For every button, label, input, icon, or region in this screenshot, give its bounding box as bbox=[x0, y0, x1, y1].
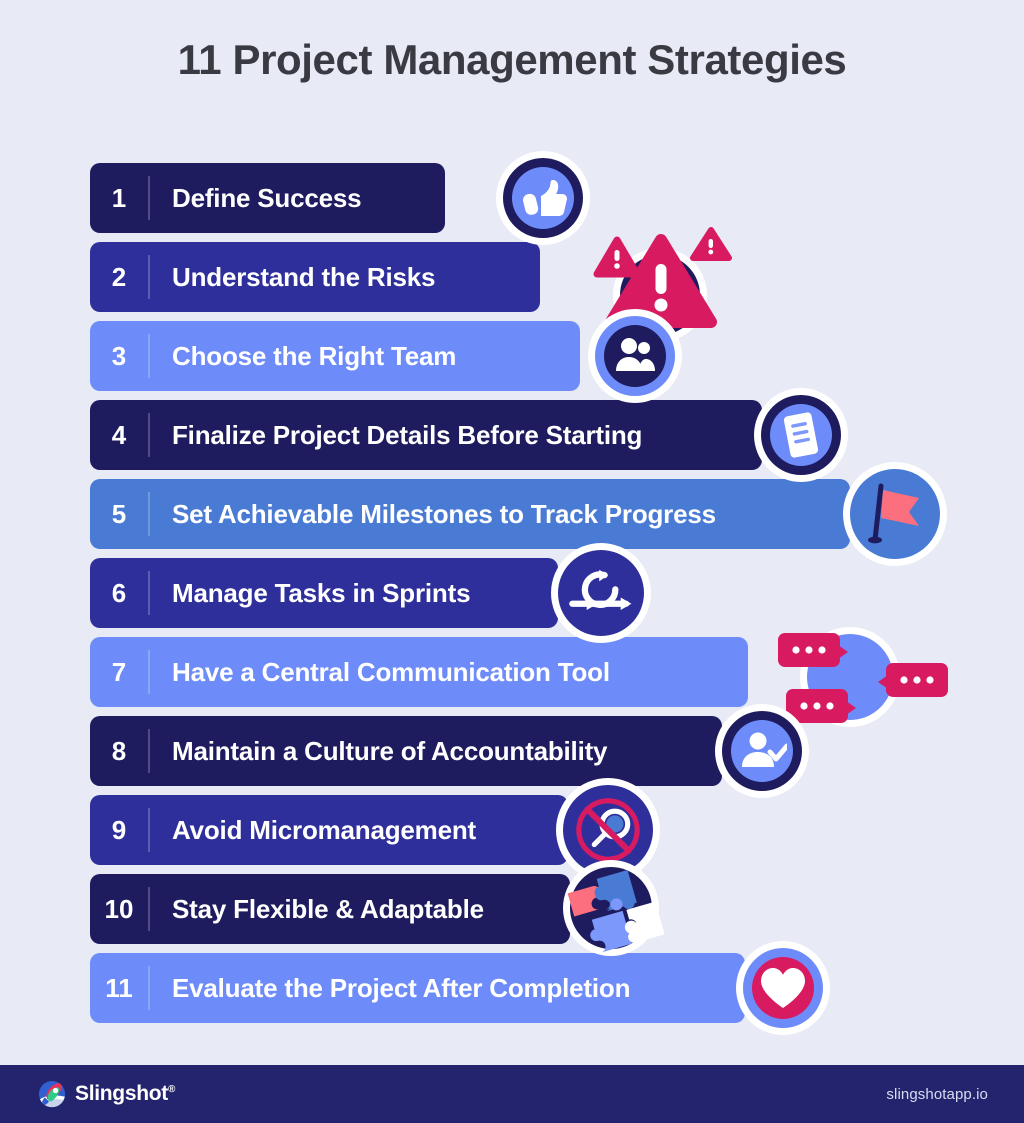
strategy-number: 1 bbox=[90, 185, 148, 211]
strategy-number: 8 bbox=[90, 738, 148, 764]
strategy-row: 1 Define Success bbox=[90, 163, 990, 233]
strategy-bar[interactable]: 6 Manage Tasks in Sprints bbox=[90, 558, 558, 628]
strategy-number: 10 bbox=[90, 896, 148, 922]
strategy-number: 7 bbox=[90, 659, 148, 685]
strategy-row: 4 Finalize Project Details Before Starti… bbox=[90, 400, 990, 470]
strategy-label: Avoid Micromanagement bbox=[150, 815, 476, 846]
slingshot-logo[interactable]: Slingshot® bbox=[38, 1080, 175, 1108]
strategy-bar[interactable]: 7 Have a Central Communication Tool bbox=[90, 637, 748, 707]
page-title: 11 Project Management Strategies bbox=[0, 36, 1024, 84]
strategy-label: Understand the Risks bbox=[150, 262, 435, 293]
slingshot-rocket-logo-icon bbox=[38, 1080, 66, 1108]
strategy-bar[interactable]: 3 Choose the Right Team bbox=[90, 321, 580, 391]
strategy-list: 1 Define Success 2 Understand the Risks bbox=[90, 163, 990, 1032]
thumbs-up-icon bbox=[496, 151, 590, 245]
strategy-row: 6 Manage Tasks in Sprints bbox=[90, 558, 990, 628]
flag-icon bbox=[843, 462, 947, 566]
strategy-row: 8 Maintain a Culture of Accountability bbox=[90, 716, 990, 786]
strategy-label: Stay Flexible & Adaptable bbox=[150, 894, 484, 925]
strategy-bar[interactable]: 5 Set Achievable Milestones to Track Pro… bbox=[90, 479, 850, 549]
sprint-cycle-icon bbox=[551, 543, 651, 643]
team-icon bbox=[588, 309, 682, 403]
strategy-row: 10 Stay Flexible & Adaptable bbox=[90, 874, 990, 944]
infographic-page: 11 Project Management Strategies 1 Defin… bbox=[0, 0, 1024, 1123]
strategy-bar[interactable]: 2 Understand the Risks bbox=[90, 242, 540, 312]
strategy-number: 2 bbox=[90, 264, 148, 290]
puzzle-pieces-glyph bbox=[561, 858, 677, 968]
strategy-row: 11 Evaluate the Project After Completion bbox=[90, 953, 990, 1023]
strategy-number: 9 bbox=[90, 817, 148, 843]
strategy-bar[interactable]: 11 Evaluate the Project After Completion bbox=[90, 953, 745, 1023]
strategy-label: Finalize Project Details Before Starting bbox=[150, 420, 642, 451]
strategy-label: Have a Central Communication Tool bbox=[150, 657, 610, 688]
document-icon bbox=[754, 388, 848, 482]
strategy-number: 4 bbox=[90, 422, 148, 448]
strategy-bar[interactable]: 8 Maintain a Culture of Accountability bbox=[90, 716, 722, 786]
strategy-bar[interactable]: 4 Finalize Project Details Before Starti… bbox=[90, 400, 762, 470]
strategy-number: 11 bbox=[90, 975, 148, 1001]
strategy-row: 3 Choose the Right Team bbox=[90, 321, 990, 391]
strategy-row: 2 Understand the Risks bbox=[90, 242, 990, 312]
strategy-number: 6 bbox=[90, 580, 148, 606]
strategy-bar[interactable]: 10 Stay Flexible & Adaptable bbox=[90, 874, 570, 944]
strategy-label: Define Success bbox=[150, 183, 361, 214]
heart-icon bbox=[736, 941, 830, 1035]
footer-bar: Slingshot® slingshotapp.io bbox=[0, 1065, 1024, 1123]
no-magnifier-icon bbox=[556, 778, 660, 882]
strategy-label: Manage Tasks in Sprints bbox=[150, 578, 470, 609]
strategy-label: Set Achievable Milestones to Track Progr… bbox=[150, 499, 716, 530]
strategy-row: 5 Set Achievable Milestones to Track Pro… bbox=[90, 479, 990, 549]
strategy-label: Maintain a Culture of Accountability bbox=[150, 736, 607, 767]
strategy-bar[interactable]: 9 Avoid Micromanagement bbox=[90, 795, 568, 865]
strategy-row: 9 Avoid Micromanagement bbox=[90, 795, 990, 865]
accountability-icon bbox=[715, 704, 809, 798]
strategy-label: Choose the Right Team bbox=[150, 341, 456, 372]
trademark-symbol: ® bbox=[168, 1084, 175, 1095]
strategy-bar[interactable]: 1 Define Success bbox=[90, 163, 445, 233]
strategy-label: Evaluate the Project After Completion bbox=[150, 973, 630, 1004]
strategy-number: 3 bbox=[90, 343, 148, 369]
strategy-row: 7 Have a Central Communication Tool bbox=[90, 637, 990, 707]
website-url: slingshotapp.io bbox=[886, 1086, 988, 1103]
logo-wordmark: Slingshot® bbox=[75, 1082, 175, 1106]
strategy-number: 5 bbox=[90, 501, 148, 527]
